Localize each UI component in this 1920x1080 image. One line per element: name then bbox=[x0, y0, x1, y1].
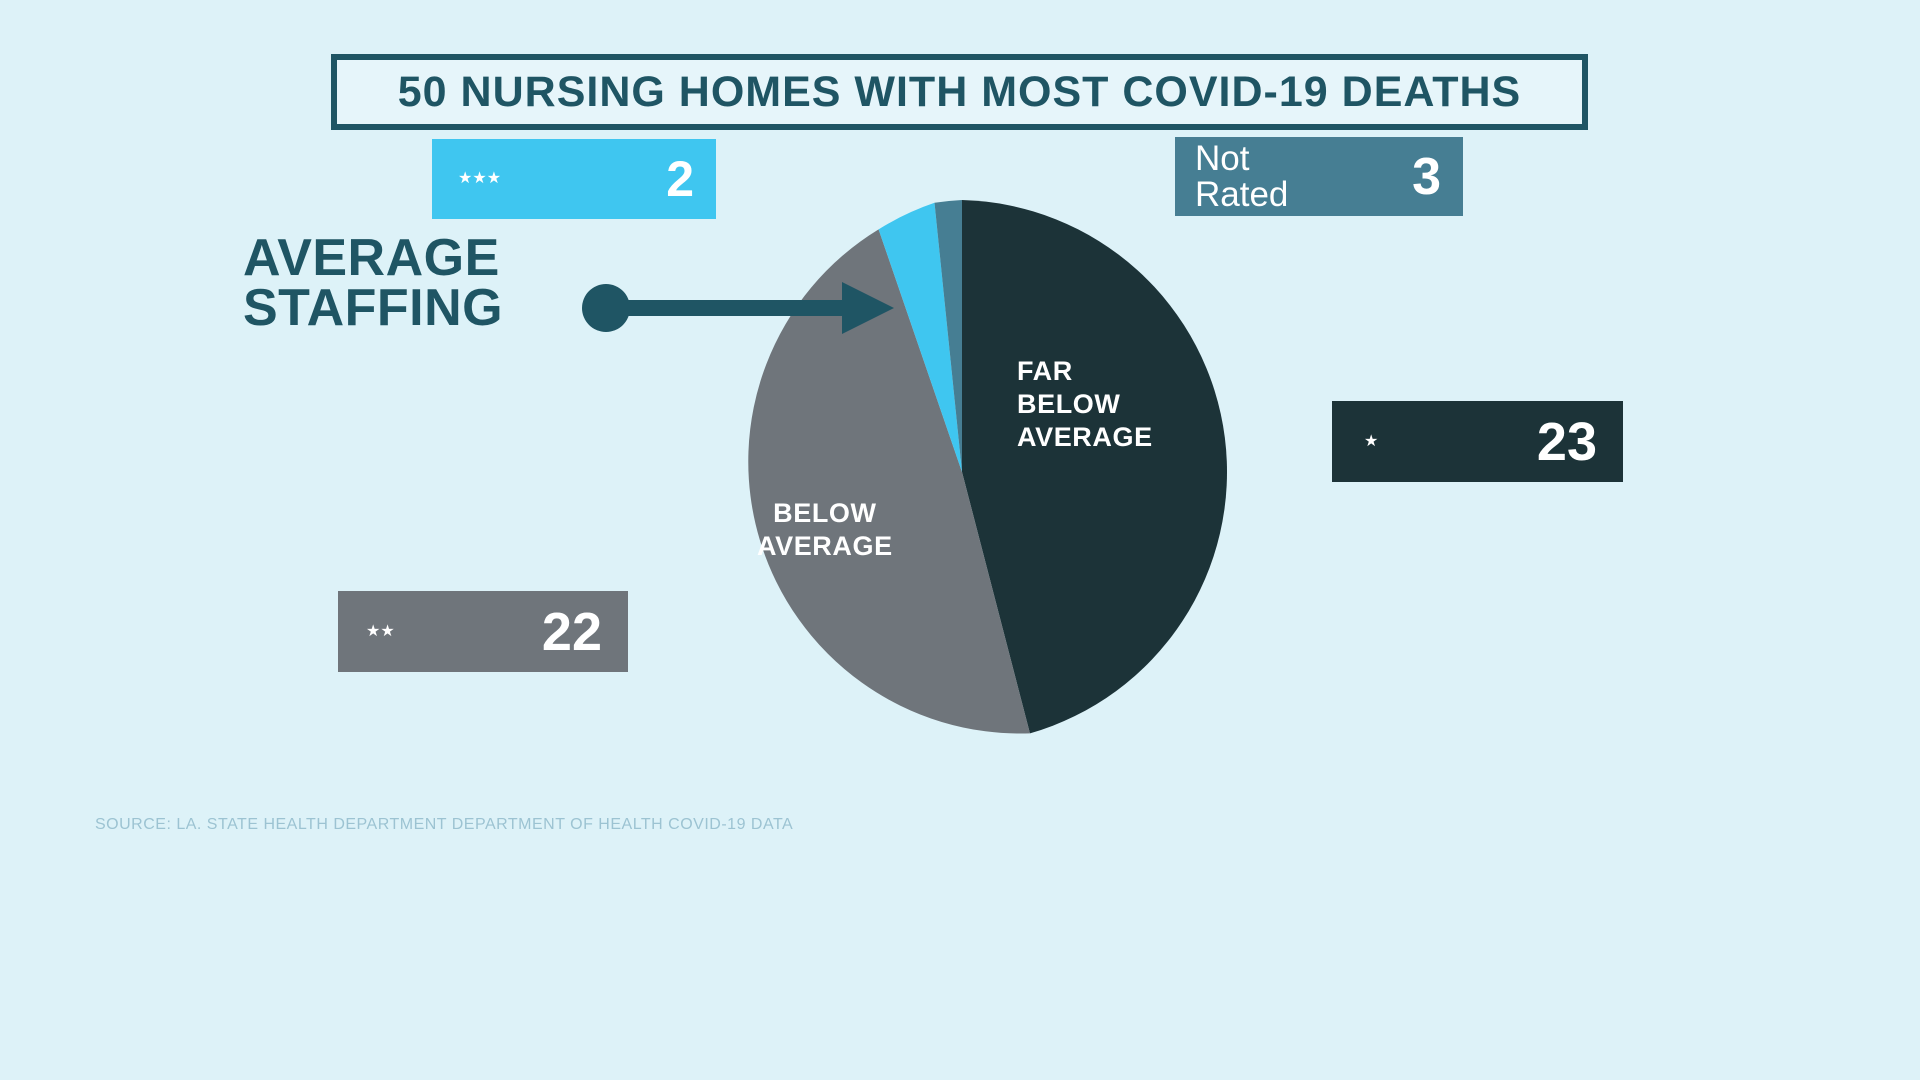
infographic-stage: 50 NURSING HOMES WITH MOST COVID-19 DEAT… bbox=[0, 0, 1920, 1080]
callout-label-average-staffing: AVERAGE STAFFING bbox=[243, 233, 583, 334]
source-attribution: SOURCE: LA. STATE HEALTH DEPARTMENT DEPA… bbox=[95, 816, 793, 834]
callout-arrow-icon bbox=[580, 268, 900, 348]
chart-title-box: 50 NURSING HOMES WITH MOST COVID-19 DEAT… bbox=[331, 54, 1588, 130]
two-star-count: 22 bbox=[542, 605, 602, 659]
pie-label-below-average: BELOW AVERAGE bbox=[757, 497, 893, 563]
legend-badge-not-rated[interactable]: Not Rated 3 bbox=[1175, 137, 1463, 216]
one-star-count: 23 bbox=[1537, 415, 1597, 469]
legend-badge-three-star[interactable]: ★★★ 2 bbox=[432, 139, 716, 219]
pie-chart bbox=[660, 170, 1264, 774]
one-star-icon: ★ bbox=[1364, 434, 1378, 450]
three-star-icon: ★★★ bbox=[458, 171, 501, 187]
not-rated-count: 3 bbox=[1412, 151, 1441, 203]
legend-badge-two-star[interactable]: ★★ 22 bbox=[338, 591, 628, 672]
not-rated-label: Not Rated bbox=[1195, 141, 1288, 212]
two-star-icon: ★★ bbox=[366, 624, 395, 640]
pie-label-far-below-average: FAR BELOW AVERAGE bbox=[1017, 355, 1153, 454]
three-star-count: 2 bbox=[666, 154, 694, 204]
page-title: 50 NURSING HOMES WITH MOST COVID-19 DEAT… bbox=[398, 68, 1521, 117]
legend-badge-one-star[interactable]: ★ 23 bbox=[1332, 401, 1623, 482]
